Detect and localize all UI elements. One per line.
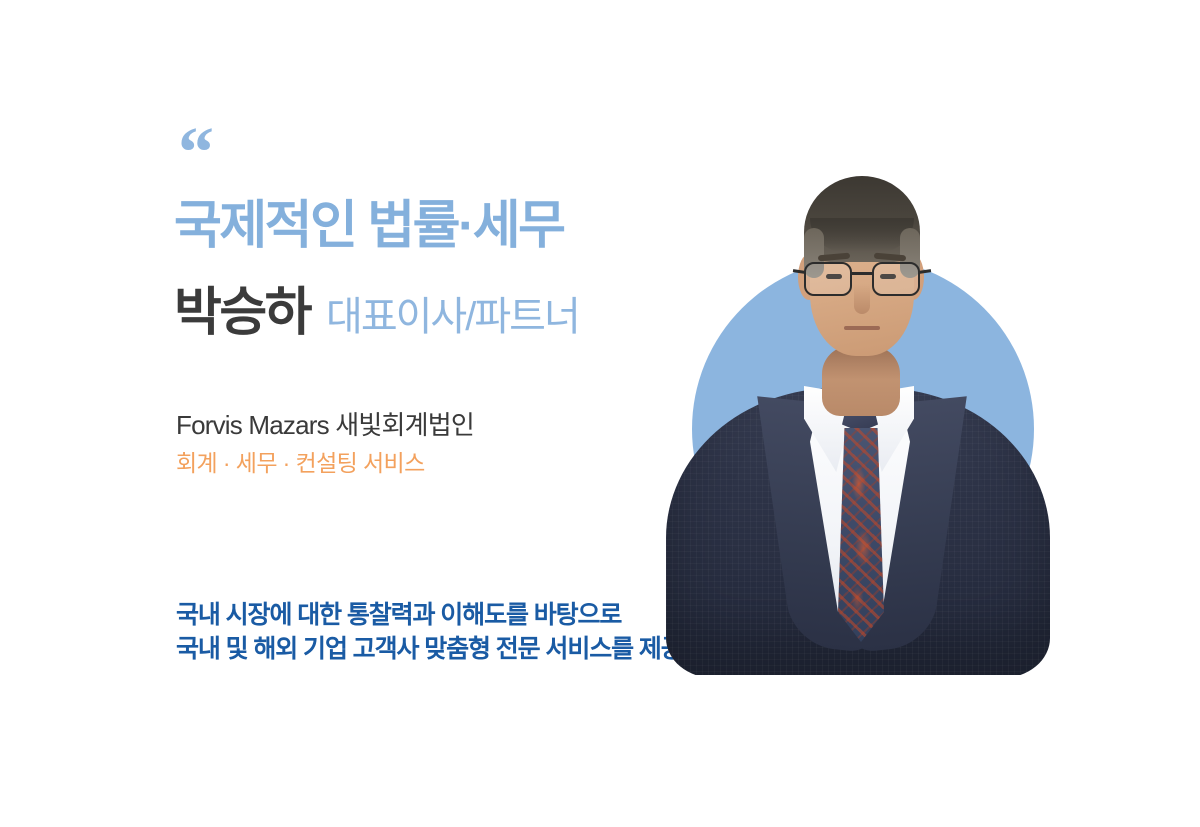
services-line: 회계 · 세무 · 컨설팅 서비스 bbox=[176, 448, 425, 478]
headline: 국제적인 법률·세무 bbox=[174, 196, 563, 256]
person-name: 박승하 bbox=[174, 284, 310, 342]
profile-card: “ 국제적인 법률·세무 박승하 대표이사/파트너 Forvis Mazars … bbox=[0, 0, 1200, 827]
nose bbox=[854, 284, 870, 314]
eyeglass-temple-right bbox=[919, 269, 931, 273]
description-line-1: 국내 시장에 대한 통찰력과 이해도를 바탕으로 bbox=[176, 598, 683, 632]
eyeglass-lens-right bbox=[872, 262, 920, 296]
portrait-photo bbox=[658, 150, 1058, 675]
name-row: 박승하 대표이사/파트너 bbox=[174, 284, 579, 342]
description-line-2: 국내 및 해외 기업 고객사 맞춤형 전문 서비스를 제공 bbox=[176, 632, 683, 666]
portrait-area: 아주대 MBA 41기 bbox=[620, 150, 1080, 690]
quote-mark-icon: “ bbox=[178, 116, 212, 188]
mouth bbox=[844, 326, 880, 330]
organization-name: Forvis Mazars 새빛회계법인 bbox=[176, 409, 474, 441]
eyeglass-lens-left bbox=[804, 262, 852, 296]
person-role: 대표이사/파트너 bbox=[326, 294, 579, 340]
description: 국내 시장에 대한 통찰력과 이해도를 바탕으로 국내 및 해외 기업 고객사 … bbox=[176, 598, 683, 666]
necktie-pattern bbox=[838, 428, 884, 642]
necktie bbox=[838, 428, 884, 642]
eyeglass-bridge bbox=[852, 272, 872, 275]
